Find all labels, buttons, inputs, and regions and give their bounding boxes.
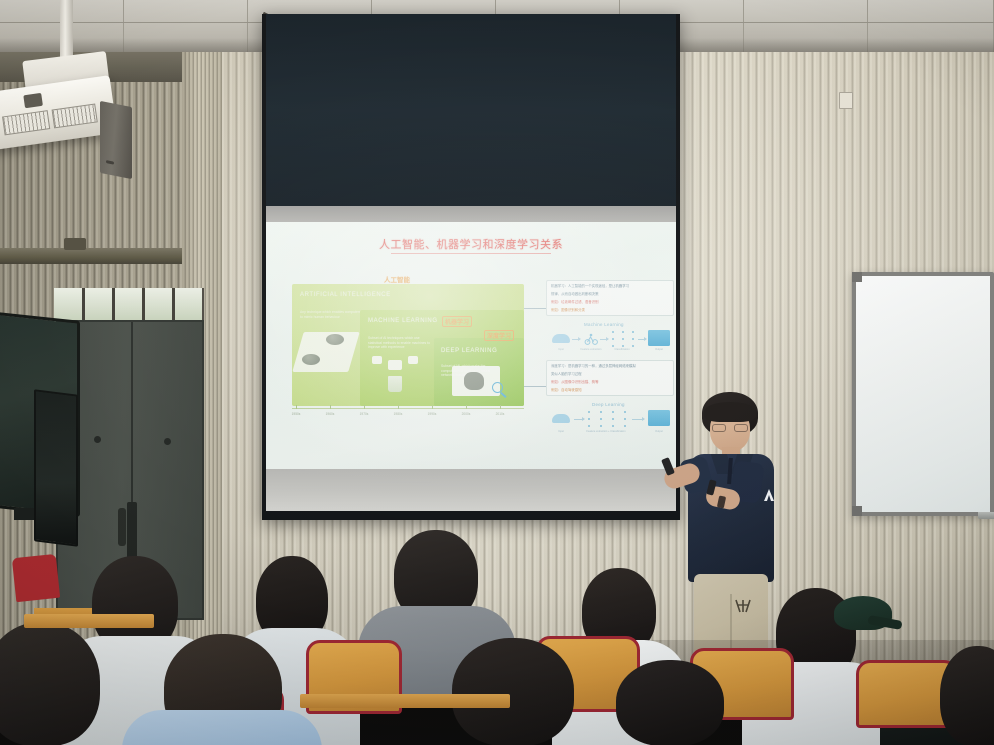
axis-tick-label: 1960s bbox=[326, 412, 335, 416]
whiteboard-tray bbox=[978, 512, 994, 519]
ai-label-en: ARTIFICIAL INTELLIGENCE bbox=[300, 292, 391, 299]
secondary-display bbox=[34, 389, 78, 546]
projector-vent bbox=[52, 103, 98, 128]
axis-tick-label: 1970s bbox=[360, 412, 369, 416]
whiteboard[interactable] bbox=[852, 272, 994, 516]
ml-box: MACHINE LEARNING Subset of AI techniques… bbox=[360, 310, 524, 406]
go-stone-icon bbox=[302, 354, 320, 365]
red-chair[interactable] bbox=[12, 554, 60, 602]
trash-bin-icon bbox=[388, 376, 402, 392]
classroom-scene: 人工智能、机器学习和深度学习关系 ARTIFICIAL INTELLIGENCE… bbox=[0, 0, 994, 745]
callout-deep-learning: 深度学习：是机器学习的一种，通过多层神经网络来模拟 类似人脑的学习过程 例如：从… bbox=[546, 360, 674, 396]
flow-stage-label: Feature extraction + Classification bbox=[586, 430, 625, 433]
callout-line: 例如：垃圾邮件过滤、语音识别 bbox=[551, 300, 598, 305]
flow-title-ml: Machine Learning bbox=[584, 322, 624, 327]
axis-tick-label: 1990s bbox=[428, 412, 437, 416]
lintel-bracket bbox=[64, 238, 86, 250]
feature-extraction-icon bbox=[584, 332, 598, 344]
ml-node-icon bbox=[408, 356, 418, 364]
projector-mount-rod bbox=[60, 0, 73, 62]
projector-lens bbox=[23, 93, 43, 108]
projector-vent bbox=[2, 110, 50, 135]
door-lintel bbox=[0, 248, 203, 264]
callout-line: 规律，从而自动做出判断和决策 bbox=[551, 292, 598, 297]
presenter-remote[interactable] bbox=[661, 457, 675, 476]
axis-tick-label: 1980s bbox=[394, 412, 403, 416]
callout-line: 例如：自动驾驶感知 bbox=[551, 388, 582, 393]
callout-machine-learning: 机器学习：人工智能的一个实现途径，是让机器学习 规律，从而自动做出判断和决策 例… bbox=[546, 280, 674, 316]
callout-line: 例如：从图像中识别出猫、狗等 bbox=[551, 380, 598, 385]
shirt-logo-icon bbox=[762, 488, 776, 502]
dl-label-en: DEEP LEARNING bbox=[441, 348, 497, 355]
callout-line: 机器学习：人工智能的一个实现途径，是让机器学习 bbox=[551, 284, 629, 289]
flow-stage-label: Classification bbox=[614, 348, 629, 351]
flow-stage-label: Output bbox=[655, 348, 663, 351]
screen-backdrop bbox=[266, 14, 676, 206]
axis-tick-label: 2000s bbox=[462, 412, 471, 416]
flow-stage-label: Feature extraction bbox=[581, 348, 602, 351]
desk-surface bbox=[24, 614, 154, 628]
car-icon bbox=[552, 334, 570, 343]
ai-sub: Any technique which enables computers to… bbox=[300, 310, 362, 319]
flow-stage-label: Input bbox=[558, 430, 564, 433]
callout-line: 类似人脑的学习过程 bbox=[551, 372, 582, 377]
ml-node-icon bbox=[388, 360, 402, 370]
magnifier-icon bbox=[492, 382, 503, 393]
callout-line: 例如：图像识别和分类 bbox=[551, 308, 585, 313]
timeline-axis bbox=[292, 408, 524, 409]
flow-stage-label: Input bbox=[558, 348, 564, 351]
transom-window bbox=[56, 288, 204, 322]
audience-head bbox=[616, 660, 724, 745]
audience-head bbox=[0, 622, 100, 745]
axis-tick-label: 1950s bbox=[292, 412, 301, 416]
car-icon bbox=[552, 414, 570, 423]
slide-title: 人工智能、机器学习和深度学习关系 bbox=[266, 236, 676, 252]
slide-surface: 人工智能、机器学习和深度学习关系 ARTIFICIAL INTELLIGENCE… bbox=[266, 222, 676, 470]
screen-border-bottom bbox=[266, 469, 676, 511]
glasses-icon bbox=[712, 424, 748, 432]
callout-line: 深度学习：是机器学习的一种，通过多层神经网络来模拟 bbox=[551, 364, 636, 369]
pocket-logo-icon bbox=[734, 598, 752, 614]
ml-node-icon bbox=[372, 356, 382, 364]
desk-surface bbox=[300, 694, 510, 708]
ml-label-cn: 机器学习 bbox=[442, 316, 472, 327]
wall-speaker bbox=[100, 101, 132, 179]
flow-title-dl: Deep Learning bbox=[592, 402, 625, 407]
output-icon bbox=[648, 330, 670, 346]
go-stone-icon bbox=[326, 334, 344, 345]
dl-box: DEEP LEARNING Subset of ML which make th… bbox=[434, 338, 524, 406]
dl-label-cn: 深度学习 bbox=[484, 330, 514, 341]
ai-label-cn: 人工智能 bbox=[384, 274, 410, 284]
wall-plate bbox=[839, 92, 853, 109]
axis-tick-label: 2010s bbox=[496, 412, 505, 416]
audience-body bbox=[122, 710, 322, 745]
ai-box: ARTIFICIAL INTELLIGENCE Any technique wh… bbox=[292, 284, 524, 406]
ml-sub: Subset of AI techniques which use statis… bbox=[368, 336, 430, 350]
projection-screen: 人工智能、机器学习和深度学习关系 ARTIFICIAL INTELLIGENCE… bbox=[262, 14, 680, 520]
audience-head bbox=[452, 638, 574, 745]
ml-label-en: MACHINE LEARNING bbox=[368, 318, 438, 325]
